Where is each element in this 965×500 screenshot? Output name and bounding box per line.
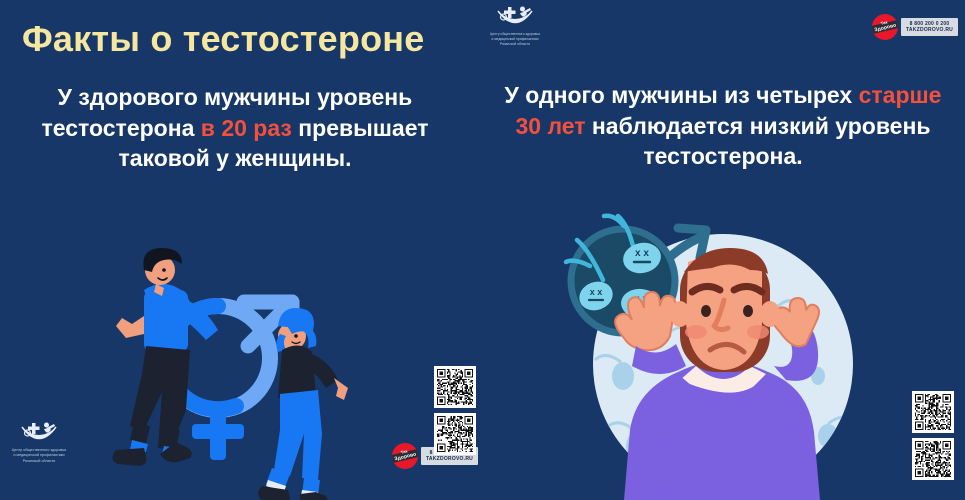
svg-text:x x: x x: [635, 248, 649, 259]
badge-site: TAKZDOROVO.RU: [426, 456, 473, 462]
badge-circle-line2: Здорово: [872, 23, 898, 34]
qr-code[interactable]: [912, 438, 954, 480]
org-logo-line3: Рязанской области: [490, 42, 540, 47]
qr-code-stack-left[interactable]: [434, 366, 476, 455]
poster-root: Факты о тестостероне У здорового мужчины…: [0, 0, 965, 500]
svg-text:x x: x x: [590, 287, 603, 297]
org-logo-bottom: Центр общественного здоровья и медицинск…: [8, 420, 70, 464]
right-panel-headline: У одного мужчины из четырех старше 30 ле…: [492, 80, 954, 172]
qr-code[interactable]: [434, 366, 476, 408]
takzdorovo-logo-icon: Так Здорово: [392, 443, 418, 469]
org-logo-line2: и медицинской профилактики: [12, 453, 67, 458]
qr-code[interactable]: [912, 391, 954, 433]
badge-site: TAKZDOROVO.RU: [906, 27, 953, 33]
health-center-icon: [19, 420, 59, 446]
takzdorovo-logo-icon: Так Здорово: [872, 14, 898, 40]
illustration-man-woman-gender-symbol: [96, 228, 356, 500]
right-headline-part2: наблюдается низкий уровень тестостерона.: [586, 113, 931, 170]
qr-code-stack-right[interactable]: [912, 391, 954, 480]
qr-code[interactable]: [434, 413, 476, 455]
takzdorovo-badge-top[interactable]: Так Здорово 8 800 200 0 200 TAKZDOROVO.R…: [872, 14, 958, 40]
org-logo-line3: Рязанской области: [12, 459, 67, 464]
badge-circle-line2: Здорово: [392, 452, 418, 463]
left-panel-headline: У здорового мужчины уровень тестостерона…: [10, 82, 460, 174]
badge-contact-plate: 8 800 200 0 200 TAKZDOROVO.RU: [901, 18, 958, 37]
page-title: Факты о тестостероне: [22, 18, 424, 60]
health-center-icon: [495, 4, 535, 30]
illustration-sad-man-low-testosterone: x x x x x x: [528, 196, 898, 500]
right-headline-part1: У одного мужчины из четырех: [505, 82, 859, 108]
org-logo-top: Центр общественного здоровья и медицинск…: [484, 4, 546, 47]
left-headline-highlight: в 20 раз: [201, 115, 292, 141]
